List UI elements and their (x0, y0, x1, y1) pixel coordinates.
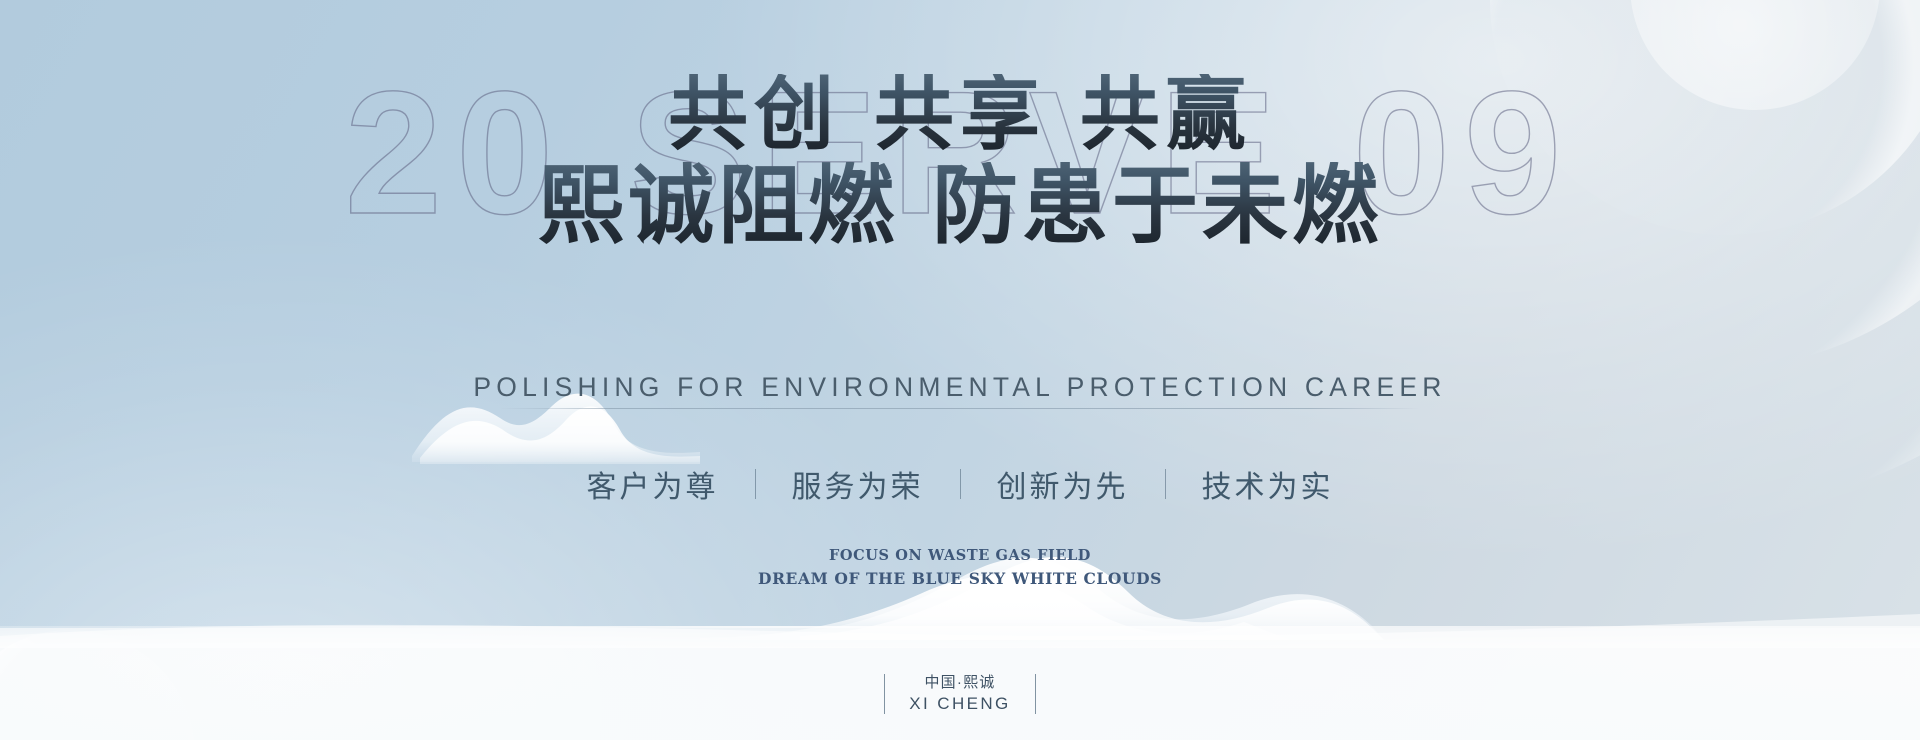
values-row: 客户为尊 服务为荣 创新为先 技术为实 (0, 462, 1920, 506)
logo-text-en: XI CHENG (909, 693, 1010, 716)
logo-text-cn: 中国·熙诚 (909, 673, 1010, 693)
logo-text: 中国·熙诚 XI CHENG (885, 673, 1034, 716)
value-item-4: 技术为实 (1202, 462, 1334, 506)
tagline-divider (500, 408, 1420, 409)
sub-english-line2: DREAM OF THE BLUE SKY WHITE CLOUDS (0, 567, 1920, 591)
value-separator-1 (755, 469, 756, 499)
logo-rule-right (1035, 674, 1037, 714)
value-item-1: 客户为尊 (587, 462, 719, 506)
value-separator-2 (960, 469, 961, 499)
headline-group: 共创 共享 共赢 熙诚阻燃 防患于未燃 (0, 74, 1920, 249)
value-separator-3 (1165, 469, 1166, 499)
tagline-english: POLISHING FOR ENVIRONMENTAL PROTECTION C… (0, 372, 1920, 403)
promo-banner: 20 SERVE 09 (0, 0, 1920, 740)
sub-english-line1: FOCUS ON WASTE GAS FIELD (0, 545, 1920, 567)
headline-primary: 共创 共享 共赢 (0, 74, 1920, 156)
headline-secondary: 熙诚阻燃 防患于未燃 (0, 162, 1920, 250)
value-item-3: 创新为先 (997, 462, 1129, 506)
value-item-2: 服务为荣 (792, 462, 924, 506)
logo-lockup: 中国·熙诚 XI CHENG (0, 673, 1920, 716)
sub-english-group: FOCUS ON WASTE GAS FIELD DREAM OF THE BL… (0, 545, 1920, 591)
